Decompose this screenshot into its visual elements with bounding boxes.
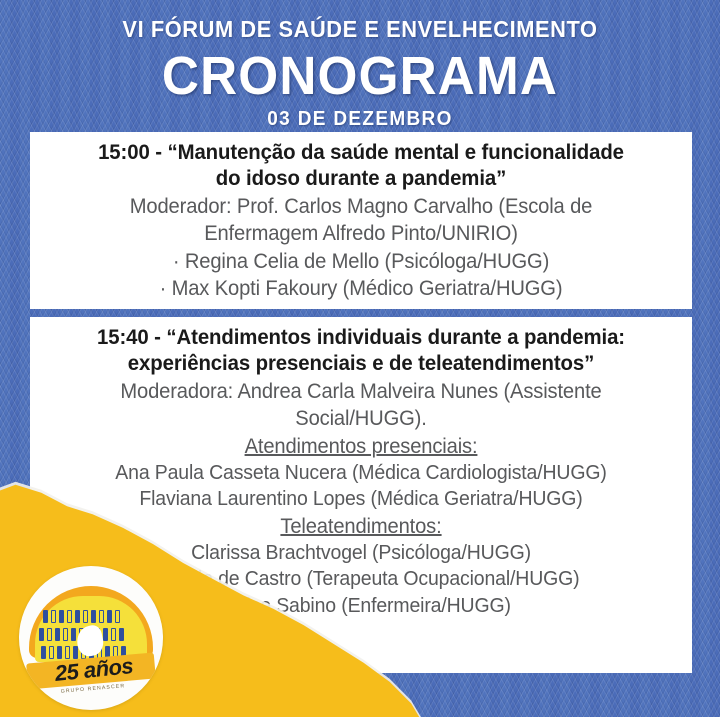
event-date: 03 DE DEZEMBRO bbox=[18, 108, 702, 130]
logo-window bbox=[49, 646, 54, 659]
session-1-speaker-1: · Regina Celia de Mello (Psicóloga/HUGG) bbox=[53, 248, 669, 275]
logo-window bbox=[59, 610, 64, 623]
poster-canvas: VI FÓRUM DE SAÚDE E ENVELHECIMENTO CRONO… bbox=[0, 0, 720, 717]
session-1-heading-line-1: 15:00 - “Manutenção da saúde mental e fu… bbox=[50, 140, 673, 166]
logo-window bbox=[67, 610, 72, 623]
logo-window bbox=[83, 610, 88, 623]
session-2-moderator-line-1: Moderadora: Andrea Carla Malveira Nunes … bbox=[53, 378, 669, 405]
logo-window bbox=[73, 646, 78, 659]
logo-window bbox=[63, 628, 68, 641]
logo-25-anos: 25 años GRUPO RENASCER bbox=[19, 566, 163, 710]
session-card-1: 15:00 - “Manutenção da saúde mental e fu… bbox=[30, 132, 692, 309]
session-1-heading-line-2: do idoso durante a pandemia” bbox=[50, 166, 673, 192]
poster-header: VI FÓRUM DE SAÚDE E ENVELHECIMENTO CRONO… bbox=[0, 0, 720, 130]
logo-window bbox=[43, 610, 48, 623]
forum-title: VI FÓRUM DE SAÚDE E ENVELHECIMENTO bbox=[25, 17, 695, 43]
logo-window bbox=[111, 628, 116, 641]
session-1-moderator-line-2: Enfermagem Alfredo Pinto/UNIRIO) bbox=[53, 220, 669, 247]
session-2-heading-line-2: experiências presenciais e de teleatendi… bbox=[50, 351, 673, 377]
logo-window bbox=[57, 646, 62, 659]
session-1-moderator-line-1: Moderador: Prof. Carlos Magno Carvalho (… bbox=[53, 193, 669, 220]
session-1-speaker-2: · Max Kopti Fakoury (Médico Geriatra/HUG… bbox=[53, 275, 669, 302]
logo-window bbox=[51, 610, 56, 623]
logo-window bbox=[99, 610, 104, 623]
logo-window-row-1 bbox=[43, 610, 120, 623]
session-2-heading-line-1: 15:40 - “Atendimentos individuais durant… bbox=[50, 325, 673, 351]
logo-window bbox=[71, 628, 76, 641]
logo-window bbox=[41, 646, 46, 659]
logo-window bbox=[103, 628, 108, 641]
logo-window bbox=[55, 628, 60, 641]
logo-window bbox=[119, 628, 124, 641]
session-2-subsection-presenciais-label: Atendimentos presenciais: bbox=[53, 433, 669, 460]
logo-window bbox=[47, 628, 52, 641]
logo-window bbox=[107, 610, 112, 623]
logo-window bbox=[65, 646, 70, 659]
logo-window bbox=[75, 610, 80, 623]
logo-window bbox=[39, 628, 44, 641]
session-2-subsection-tele-label: Teleatendimentos: bbox=[53, 513, 669, 540]
session-2-presenciais-name-1: Ana Paula Casseta Nucera (Médica Cardiol… bbox=[53, 460, 669, 486]
logo-window bbox=[91, 610, 96, 623]
page-title: CRONOGRAMA bbox=[18, 49, 702, 104]
logo-window bbox=[115, 610, 120, 623]
session-2-presenciais-name-2: Flaviana Laurentino Lopes (Médica Geriat… bbox=[53, 486, 669, 512]
session-2-moderator-line-2: Social/HUGG). bbox=[53, 405, 669, 432]
